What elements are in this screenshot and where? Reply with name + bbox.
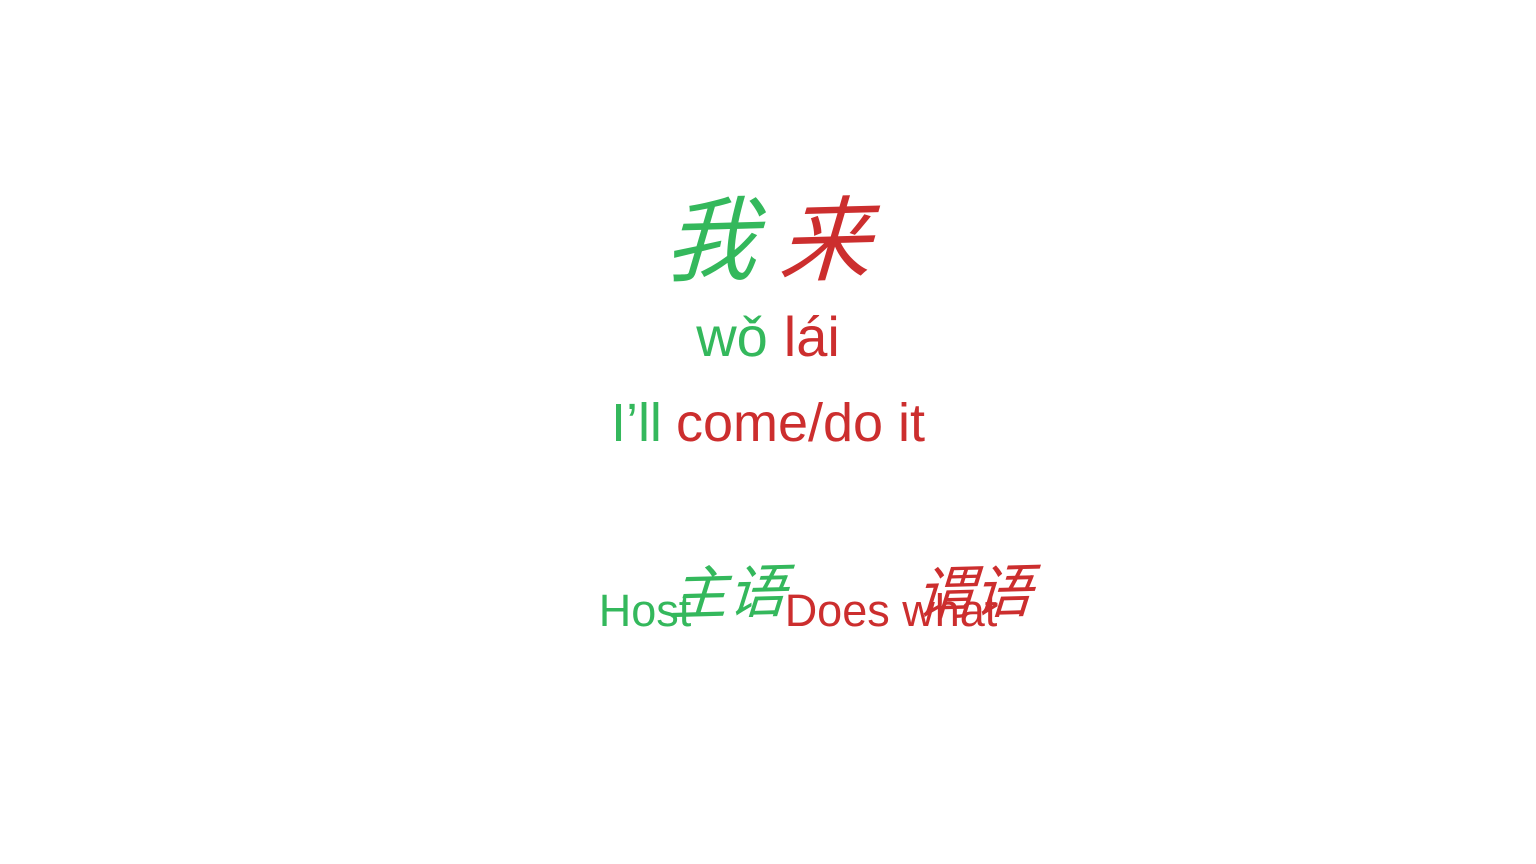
english-predicate: come/do it bbox=[676, 394, 925, 453]
grammar-annotation-block: 主语 谓语 Host Does what bbox=[0, 502, 1536, 640]
grammar-label-predicate-chinese: 谓语 bbox=[768, 502, 1014, 572]
hanzi-subject: 我 bbox=[663, 195, 759, 289]
english-translation-line: I’ll come/do it bbox=[611, 394, 925, 454]
pinyin-predicate: lái bbox=[784, 306, 840, 368]
hanzi-predicate: 来 bbox=[777, 195, 873, 289]
grammar-label-subject-chinese-text: 主语 bbox=[668, 561, 788, 625]
sentence-structure-card: 我 来 wǒ lái I’ll come/do it 主语 谓语 Host Do… bbox=[0, 0, 1536, 864]
grammar-label-predicate-chinese-text: 谓语 bbox=[914, 561, 1034, 625]
english-subject: I’ll bbox=[611, 394, 662, 453]
pinyin-line: wǒ lái bbox=[696, 306, 840, 368]
grammar-label-subject-chinese: 主语 bbox=[522, 502, 768, 572]
hanzi-sentence-line: 我 来 bbox=[665, 196, 871, 300]
pinyin-subject: wǒ bbox=[696, 306, 768, 368]
grammar-labels-chinese-row: 主语 谓语 bbox=[0, 502, 1536, 572]
